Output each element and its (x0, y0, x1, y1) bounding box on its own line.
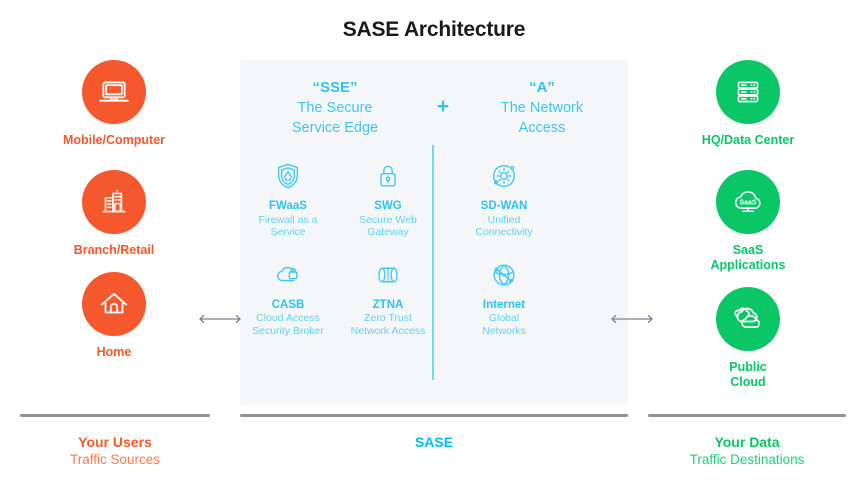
sase-panel: “SSE” The Secure Service Edge + “A” The … (240, 60, 628, 405)
house-icon (82, 272, 146, 336)
spacer (436, 255, 456, 338)
plus-symbol: + (430, 78, 456, 118)
sse-subtitle: The Secure Service Edge (240, 98, 430, 138)
footer-users: Your Users Traffic Sources (20, 414, 210, 469)
service-desc: Zero Trust Network Access (340, 312, 436, 337)
node-home[interactable]: Home (14, 272, 214, 360)
footer-subtitle: Traffic Destinations (648, 451, 846, 469)
node-branch-retail[interactable]: Branch/Retail (14, 170, 214, 258)
node-label: Branch/Retail (74, 243, 155, 258)
tunnel-icon (340, 255, 436, 295)
sse-key: “SSE” (240, 78, 430, 98)
service-desc: Secure Web Gateway (340, 214, 436, 239)
service-casb[interactable]: CASB Cloud Access Security Broker (240, 255, 336, 338)
service-desc: Firewall as a Service (240, 214, 336, 239)
node-label: Home (97, 345, 132, 360)
node-mobile-computer[interactable]: Mobile/Computer (14, 60, 214, 148)
diagram-stage: Mobile/Computer Branch/Retail (0, 60, 868, 410)
node-label: HQ/Data Center (702, 133, 794, 148)
service-swg[interactable]: SWG Secure Web Gateway (340, 156, 436, 239)
server-rack-icon (716, 60, 780, 124)
service-row: CASB Cloud Access Security Broker ZTNA (240, 255, 628, 338)
service-desc: Cloud Access Security Broker (240, 312, 336, 337)
service-sdwan[interactable]: SD-WAN Unified Connectivity (456, 156, 552, 239)
footer-title: Your Data (648, 433, 846, 451)
svg-text:SaaS: SaaS (739, 199, 756, 206)
laptop-icon (82, 60, 146, 124)
service-ztna[interactable]: ZTNA Zero Trust Network Access (340, 255, 436, 338)
globe-network-icon (456, 255, 552, 295)
arrow-sase-to-destinations (608, 312, 656, 331)
cloud-lock-icon (240, 255, 336, 295)
public-clouds-icon (716, 287, 780, 351)
node-label: SaaS Applications (710, 243, 785, 273)
shield-flame-icon (240, 156, 336, 196)
node-label: Public Cloud (729, 360, 767, 390)
traffic-destinations-column: HQ/Data Center SaaS SaaS Applications (648, 60, 848, 405)
gear-network-icon (456, 156, 552, 196)
service-desc: Unified Connectivity (456, 214, 552, 239)
spacer (436, 156, 456, 239)
footer-subtitle: Traffic Sources (20, 451, 210, 469)
service-fwaas[interactable]: FWaaS Firewall as a Service (240, 156, 336, 239)
service-name: FWaaS (240, 200, 336, 213)
service-desc: Global Networks (456, 312, 552, 337)
footer-title: SASE (240, 433, 628, 451)
arrow-sources-to-sase (196, 312, 244, 331)
service-row: FWaaS Firewall as a Service SWG S (240, 156, 628, 239)
footer: Your Users Traffic Sources SASE Your Dat… (0, 414, 868, 488)
service-name: Internet (456, 299, 552, 312)
footer-rule (20, 414, 210, 417)
footer-title: Your Users (20, 433, 210, 451)
padlock-icon (340, 156, 436, 196)
node-saas-applications[interactable]: SaaS SaaS Applications (648, 170, 848, 273)
service-name: SD-WAN (456, 200, 552, 213)
service-grid: FWaaS Firewall as a Service SWG S (240, 156, 628, 337)
page-title: SASE Architecture (0, 18, 868, 42)
service-internet[interactable]: Internet Global Networks (456, 255, 552, 338)
access-subtitle: The Network Access (456, 98, 628, 138)
footer-rule (648, 414, 846, 417)
traffic-sources-column: Mobile/Computer Branch/Retail (14, 60, 214, 405)
panel-headings: “SSE” The Secure Service Edge + “A” The … (240, 78, 628, 138)
service-name: CASB (240, 299, 336, 312)
node-hq-data-center[interactable]: HQ/Data Center (648, 60, 848, 148)
node-label: Mobile/Computer (63, 133, 165, 148)
sse-heading: “SSE” The Secure Service Edge (240, 78, 430, 138)
access-key: “A” (456, 78, 628, 98)
access-heading: “A” The Network Access (456, 78, 628, 138)
footer-rule (240, 414, 628, 417)
office-buildings-icon (82, 170, 146, 234)
node-public-cloud[interactable]: Public Cloud (648, 287, 848, 390)
saas-cloud-icon: SaaS (716, 170, 780, 234)
footer-sase: SASE (240, 414, 628, 451)
footer-data: Your Data Traffic Destinations (648, 414, 846, 469)
service-name: ZTNA (340, 299, 436, 312)
service-name: SWG (340, 200, 436, 213)
